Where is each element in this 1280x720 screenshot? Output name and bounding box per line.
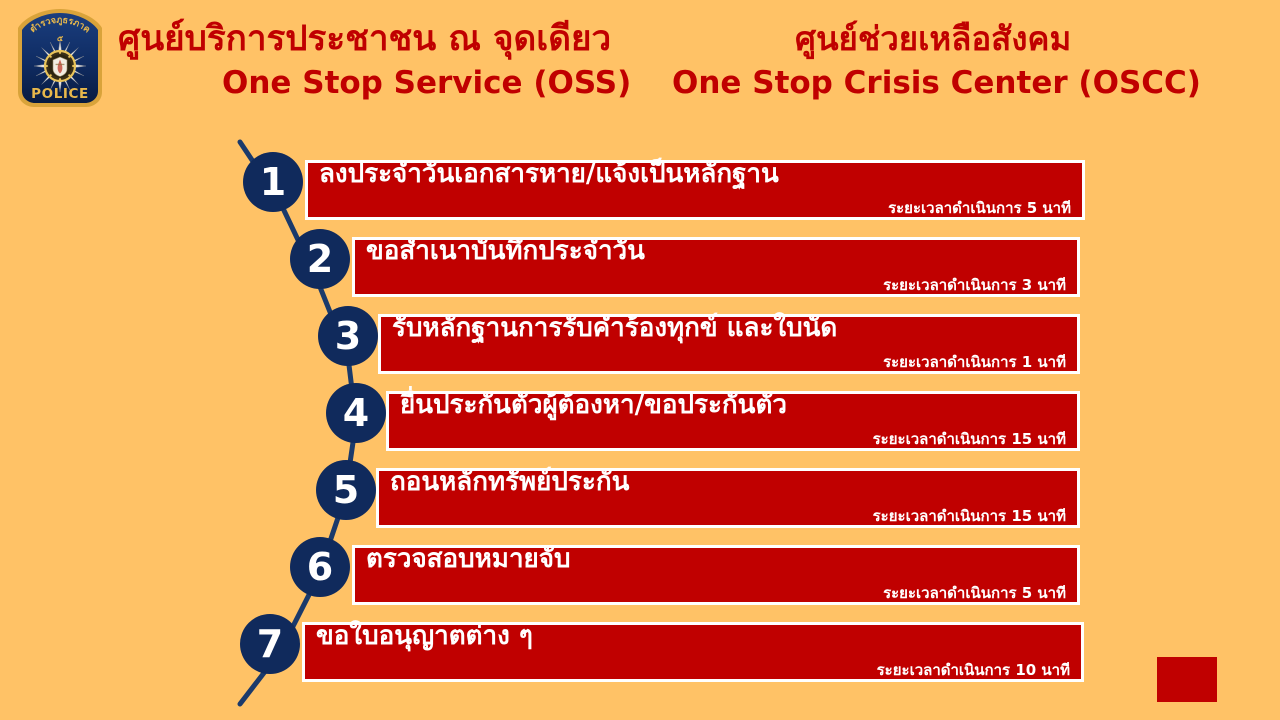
step-number-badge[interactable]: 6 (290, 537, 350, 597)
step-number-badge[interactable]: 4 (326, 383, 386, 443)
step-label: รับหลักฐานการรับคำร้องทุกข์ และใบนัด (392, 315, 837, 341)
step-duration: ระยะเวลาดำเนินการ 15 นาที (873, 432, 1066, 447)
step-number: 3 (335, 317, 361, 355)
step-number-badge[interactable]: 3 (318, 306, 378, 366)
step-row[interactable]: ขอสำเนาบันทึกประจำวันระยะเวลาดำเนินการ 3… (0, 229, 1280, 305)
title-oss-english: One Stop Service (OSS) (222, 68, 631, 99)
step-row[interactable]: ตรวจสอบหมายจับระยะเวลาดำเนินการ 5 นาที6 (0, 537, 1280, 613)
step-duration: ระยะเวลาดำเนินการ 15 นาที (873, 509, 1066, 524)
step-number: 4 (343, 394, 369, 432)
step-row[interactable]: ลงประจำวันเอกสารหาย/แจ้งเป็นหลักฐานระยะเ… (0, 152, 1280, 228)
step-label: ถอนหลักทรัพย์ประกัน (390, 469, 629, 495)
decorative-red-block (1157, 657, 1217, 702)
step-row[interactable]: ขอใบอนุญาตต่าง ๆระยะเวลาดำเนินการ 10 นาท… (0, 614, 1280, 690)
step-duration: ระยะเวลาดำเนินการ 5 นาที (883, 586, 1066, 601)
step-number: 7 (257, 625, 283, 663)
step-number-badge[interactable]: 5 (316, 460, 376, 520)
step-row[interactable]: ถอนหลักทรัพย์ประกันระยะเวลาดำเนินการ 15 … (0, 460, 1280, 536)
step-number: 5 (333, 471, 359, 509)
step-number-badge[interactable]: 2 (290, 229, 350, 289)
step-number-badge[interactable]: 1 (243, 152, 303, 212)
step-number: 2 (307, 240, 333, 278)
title-oss-thai: ศูนย์บริการประชาชน ณ จุดเดียว (118, 22, 611, 57)
step-number: 6 (307, 548, 333, 586)
step-label: ลงประจำวันเอกสารหาย/แจ้งเป็นหลักฐาน (319, 161, 779, 187)
title-oscc-english: One Stop Crisis Center (OSCC) (672, 68, 1201, 99)
step-duration: ระยะเวลาดำเนินการ 10 นาที (877, 663, 1070, 678)
step-label: ขอใบอนุญาตต่าง ๆ (316, 623, 533, 649)
header-banner: ตำรวจภูธรภาค ๕ (0, 0, 1280, 122)
service-steps-flow: ลงประจำวันเอกสารหาย/แจ้งเป็นหลักฐานระยะเ… (0, 122, 1280, 720)
step-number-badge[interactable]: 7 (240, 614, 300, 674)
police-shield-badge-icon: ตำรวจภูธรภาค ๕ (8, 6, 112, 112)
step-row[interactable]: ยื่นประกันตัวผู้ต้องหา/ขอประกันตัวระยะเว… (0, 383, 1280, 459)
step-duration: ระยะเวลาดำเนินการ 3 นาที (883, 278, 1066, 293)
step-label: ยื่นประกันตัวผู้ต้องหา/ขอประกันตัว (400, 392, 787, 418)
svg-text:POLICE: POLICE (31, 86, 89, 102)
step-duration: ระยะเวลาดำเนินการ 5 นาที (888, 201, 1071, 216)
step-duration: ระยะเวลาดำเนินการ 1 นาที (883, 355, 1066, 370)
step-label: ขอสำเนาบันทึกประจำวัน (366, 238, 645, 264)
step-number: 1 (260, 163, 286, 201)
step-row[interactable]: รับหลักฐานการรับคำร้องทุกข์ และใบนัดระยะ… (0, 306, 1280, 382)
title-oscc-thai: ศูนย์ช่วยเหลือสังคม (795, 22, 1071, 55)
step-label: ตรวจสอบหมายจับ (366, 546, 571, 572)
